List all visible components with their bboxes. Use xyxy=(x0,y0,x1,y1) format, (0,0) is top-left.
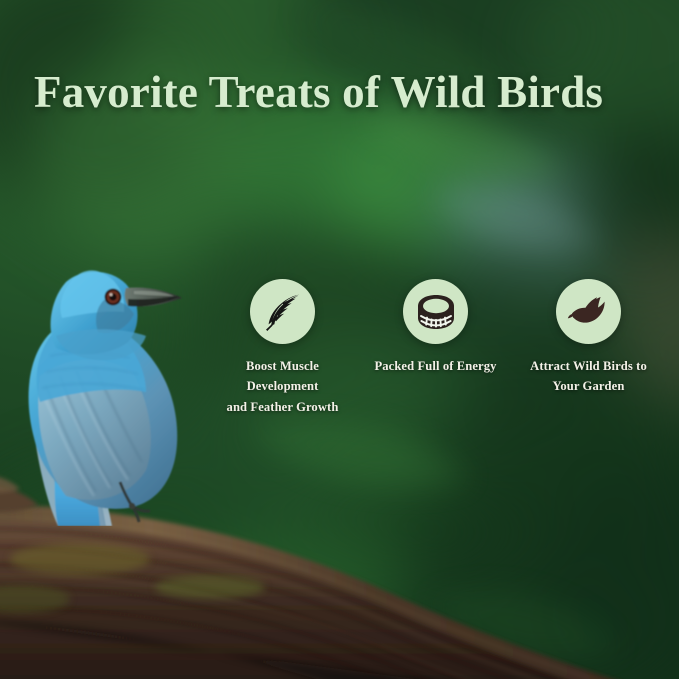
feature-item-packed-energy: Packed Full of Energy xyxy=(359,279,512,376)
feature-label-line: Boost Muscle xyxy=(227,356,339,376)
feature-icon-badge xyxy=(250,279,315,344)
flying-bird-icon xyxy=(567,290,611,334)
feature-icon-badge xyxy=(403,279,468,344)
page-title: Favorite Treats of Wild Birds xyxy=(34,70,654,115)
feature-label-line: Attract Wild Birds to xyxy=(530,356,647,376)
feature-label-line: and Feather Growth xyxy=(227,397,339,417)
product-lifestyle-image: Favorite Treats of Wild Birds xyxy=(0,0,679,679)
feature-label-line: Packed Full of Energy xyxy=(374,356,496,376)
feature-benefits-row: Boost Muscle Development and Feather Gro… xyxy=(206,279,666,417)
feature-label: Packed Full of Energy xyxy=(374,356,496,376)
suet-cake-icon xyxy=(415,291,457,333)
feature-icon-badge xyxy=(556,279,621,344)
feather-icon xyxy=(262,291,304,333)
feature-label-line: Development xyxy=(227,376,339,396)
wild-bird-photo-subject xyxy=(0,196,230,526)
feature-label: Boost Muscle Development and Feather Gro… xyxy=(227,356,339,417)
feature-item-boost-muscle: Boost Muscle Development and Feather Gro… xyxy=(206,279,359,417)
feature-label-line: Your Garden xyxy=(530,376,647,396)
feature-item-attract-birds: Attract Wild Birds to Your Garden xyxy=(512,279,665,397)
feature-label: Attract Wild Birds to Your Garden xyxy=(530,356,647,397)
